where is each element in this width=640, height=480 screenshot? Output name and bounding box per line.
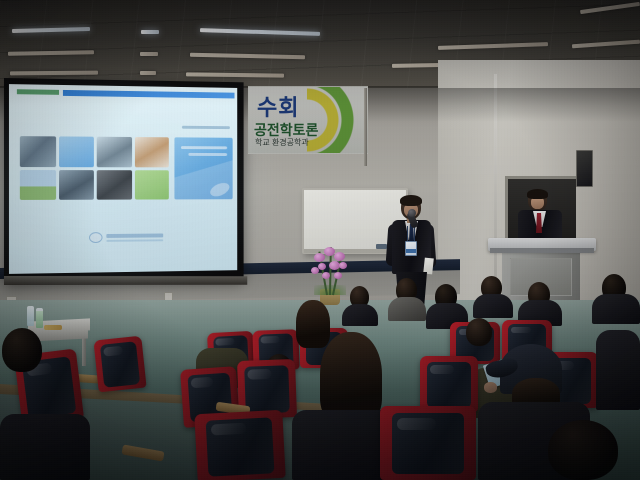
audience-shoulders <box>473 294 513 318</box>
badge-stripe <box>406 249 416 253</box>
screen-bottom-bar <box>4 276 247 285</box>
slide-thumbnail-grid <box>20 136 169 200</box>
banner-pole <box>364 88 367 166</box>
slide-thumb <box>20 170 56 200</box>
audience-shoulders <box>0 414 90 480</box>
slide-thumb <box>97 137 132 167</box>
audience-head <box>548 420 618 480</box>
panel-tagline-line2 <box>188 153 227 156</box>
snack-tray <box>44 325 62 330</box>
auditorium-seat <box>380 406 476 480</box>
logo-mark-icon <box>89 232 102 243</box>
table-leg <box>82 334 86 366</box>
slide-thumb <box>20 136 56 167</box>
auditorium-photo: 수회 공전학토론 학교 환경공학과 <box>0 0 640 480</box>
orchid-bloom <box>322 272 330 279</box>
ceiling-light <box>141 30 159 34</box>
slide-company-logo <box>89 231 163 244</box>
orchid-bloom <box>339 262 347 269</box>
panel-tagline-line1 <box>181 146 227 149</box>
hair <box>400 195 422 206</box>
projection-screen <box>4 78 244 283</box>
audience-shoulders <box>388 297 426 321</box>
audience-shoulders <box>592 294 640 324</box>
lectern-edge <box>490 248 594 253</box>
slide-thumb <box>59 136 94 166</box>
water-bottle <box>27 306 34 326</box>
microphone-head-icon <box>408 209 416 217</box>
audience-head <box>296 300 330 348</box>
lanyard <box>407 226 415 242</box>
orchid-bloom <box>334 272 342 279</box>
hand <box>484 382 497 393</box>
audience-shoulders <box>342 304 378 326</box>
necktie <box>536 213 542 233</box>
event-banner: 수회 공전학토론 학교 환경공학과 <box>248 86 368 154</box>
slide-surface <box>9 84 237 274</box>
slide-accent-bar-blue <box>63 90 235 99</box>
auditorium-seat <box>93 336 146 393</box>
handout-paper <box>423 258 434 275</box>
slide-thumb <box>134 170 168 200</box>
hair <box>527 189 548 199</box>
orchid-bloom <box>311 267 319 274</box>
ceiling-light <box>140 52 158 56</box>
ceiling-light <box>10 71 98 76</box>
audience-shoulders <box>596 330 640 410</box>
banner-shade <box>249 87 367 153</box>
logo-wordmark <box>106 233 163 241</box>
slide-accent-bar-green <box>17 89 59 95</box>
name-badge <box>405 241 417 256</box>
auditorium-seat <box>194 410 285 480</box>
audience-head <box>466 318 492 346</box>
slide-thumb <box>134 137 168 167</box>
ceiling-light <box>140 71 156 75</box>
orchid-bloom <box>334 252 345 261</box>
slide-title-panel <box>174 137 232 199</box>
orchid-bloom <box>314 253 325 262</box>
slide-thumb <box>59 170 94 200</box>
slide-url-text <box>182 126 230 129</box>
wall-speaker <box>576 150 593 187</box>
slide-thumb <box>97 170 132 200</box>
audience-head <box>2 328 42 372</box>
water-bottle <box>36 308 43 328</box>
orchid-bloom <box>318 263 326 270</box>
auditorium-seat <box>420 356 478 412</box>
